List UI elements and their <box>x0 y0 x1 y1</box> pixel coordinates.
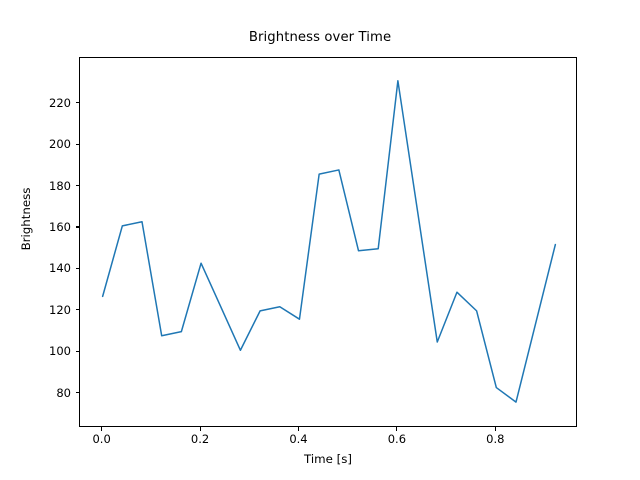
figure-canvas: Brightness over Time Brightness Time [s]… <box>0 0 640 480</box>
x-tick-label: 0.6 <box>367 432 427 446</box>
y-tick-label: 140 <box>11 261 71 275</box>
x-tick-label: 0.2 <box>170 432 230 446</box>
y-tick-label: 80 <box>11 386 71 400</box>
x-tick-label: 0.0 <box>72 432 132 446</box>
line-series-brightness <box>80 58 578 428</box>
x-axis-label: Time [s] <box>79 452 577 466</box>
y-tick-label: 180 <box>11 179 71 193</box>
chart-title: Brightness over Time <box>0 30 640 45</box>
y-tick-label: 160 <box>11 220 71 234</box>
data-polyline <box>103 81 556 402</box>
x-tick-label: 0.8 <box>465 432 525 446</box>
y-tick-label: 200 <box>11 137 71 151</box>
y-tick-label: 100 <box>11 344 71 358</box>
y-tick-label: 120 <box>11 303 71 317</box>
x-tick-label: 0.4 <box>268 432 328 446</box>
y-tick-label: 220 <box>11 96 71 110</box>
plot-area <box>79 57 577 427</box>
